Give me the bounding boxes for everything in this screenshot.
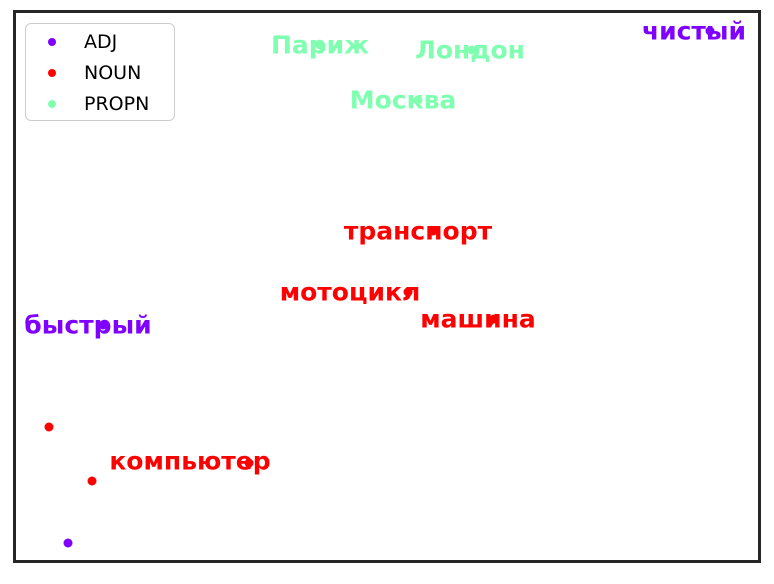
word-label: Москва (350, 88, 457, 113)
word-label: чистый (642, 19, 746, 44)
legend-item-noun[interactable]: NOUN (26, 58, 174, 88)
legend-marker-noun-icon (48, 69, 56, 77)
word-label: мотоцикл (280, 280, 421, 305)
legend-label-propn: PROPN (84, 93, 149, 115)
scatter-point (64, 539, 73, 548)
word-label: транспорт (344, 219, 492, 244)
word-label: Лондон (415, 38, 525, 63)
legend-marker-adj-icon (48, 38, 56, 46)
legend-marker-propn-icon (48, 100, 56, 108)
pos-legend[interactable]: ADJ NOUN PROPN (25, 23, 175, 121)
word-label: компьютер (109, 449, 270, 474)
legend-item-propn[interactable]: PROPN (26, 89, 174, 119)
word-label: Париж (271, 33, 369, 58)
legend-label-noun: NOUN (84, 62, 141, 84)
scatter-point (45, 423, 54, 432)
word-label: машина (420, 307, 536, 332)
word-label: быстрый (24, 313, 151, 338)
word-embedding-scatter-plot: ПарижЛондонМосквачистыйтранспортмотоцикл… (0, 0, 774, 584)
scatter-point (88, 477, 97, 486)
legend-label-adj: ADJ (84, 31, 117, 53)
legend-item-adj[interactable]: ADJ (26, 27, 174, 57)
